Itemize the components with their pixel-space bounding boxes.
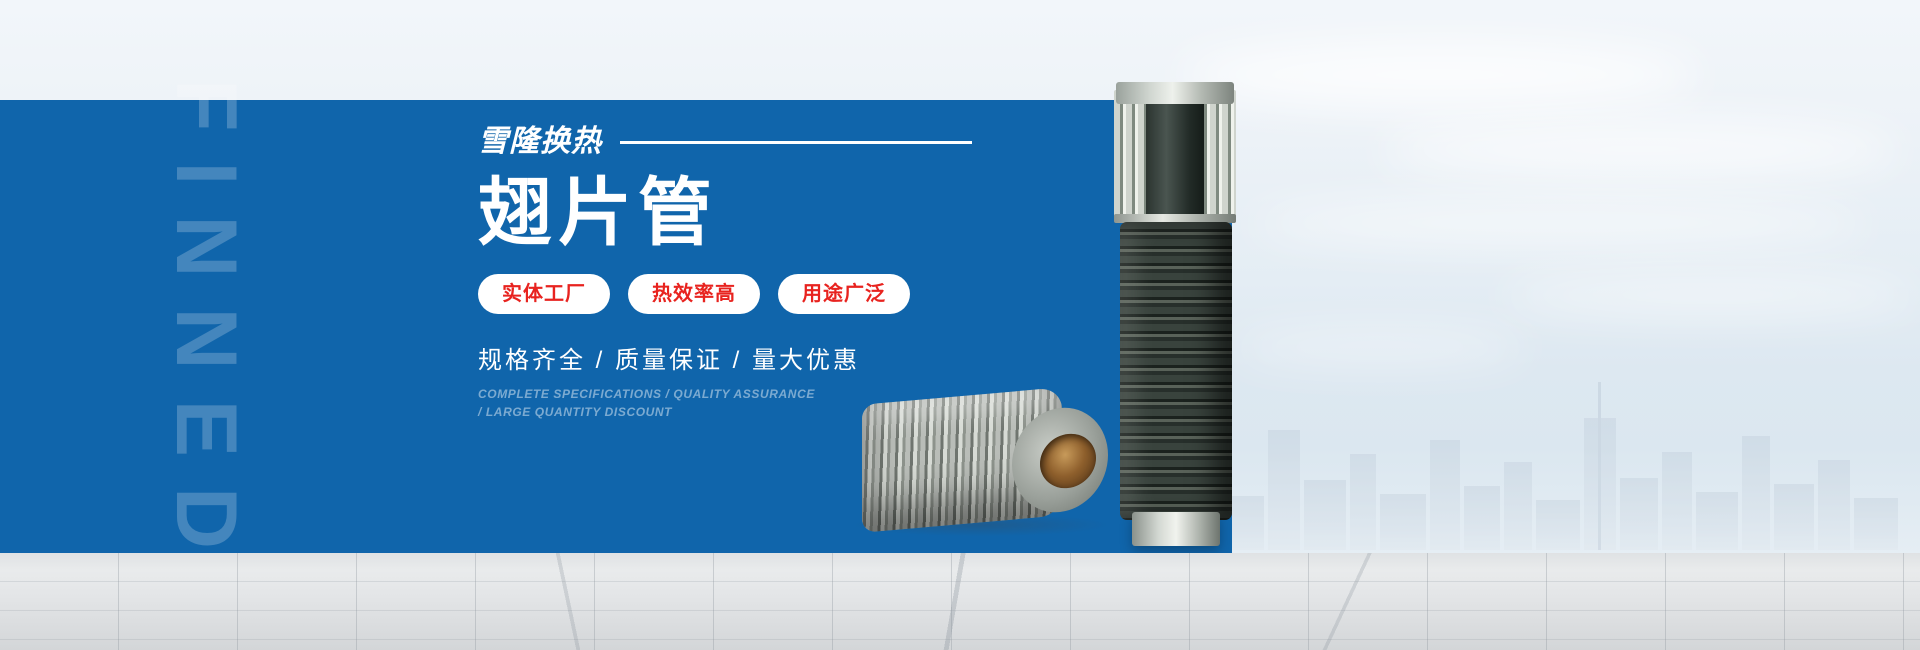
brand-name: 雪隆换热 [478,127,602,157]
cloud-streak [1180,40,1700,110]
watermark-vertical-text: FINNED [163,79,249,579]
cloud-streak [1500,275,1920,315]
floor-perspective-lines [0,553,1920,650]
page-title: 翅片管 [478,174,1178,252]
brand-divider-rule [620,141,972,144]
product-image-horizontal-finned-tube [862,396,1102,528]
tiled-floor [0,553,1920,650]
feature-badge-efficiency[interactable]: 热效率高 [628,274,760,314]
tube-top-cap [1116,82,1234,104]
brand-row: 雪隆换热 [478,122,1178,162]
subtitle-chinese: 规格齐全 / 质量保证 / 量大优惠 [478,340,1178,375]
feature-badge-list: 实体工厂 热效率高 用途广泛 [478,274,1178,314]
cloud-streak [1250,200,1870,246]
banner-text-block: 雪隆换热 翅片管 实体工厂 热效率高 用途广泛 规格齐全 / 质量保证 / 量大… [478,122,1178,421]
cloud-streak [1380,120,1900,178]
feature-badge-factory[interactable]: 实体工厂 [478,274,610,314]
feature-badge-applications[interactable]: 用途广泛 [778,274,910,314]
subtitle-english: COMPLETE SPECIFICATIONS / QUALITY ASSURA… [478,385,818,421]
tube-core-top [1146,88,1204,220]
spiral-fin-body [1120,222,1232,520]
product-image-vertical-finned-tube [1100,82,1250,480]
tube-base-flange [1132,512,1220,546]
promo-banner: FINNED 雪隆换热 翅片管 实体工厂 热效率高 用途广泛 规格齐全 / 质量… [0,0,1920,650]
